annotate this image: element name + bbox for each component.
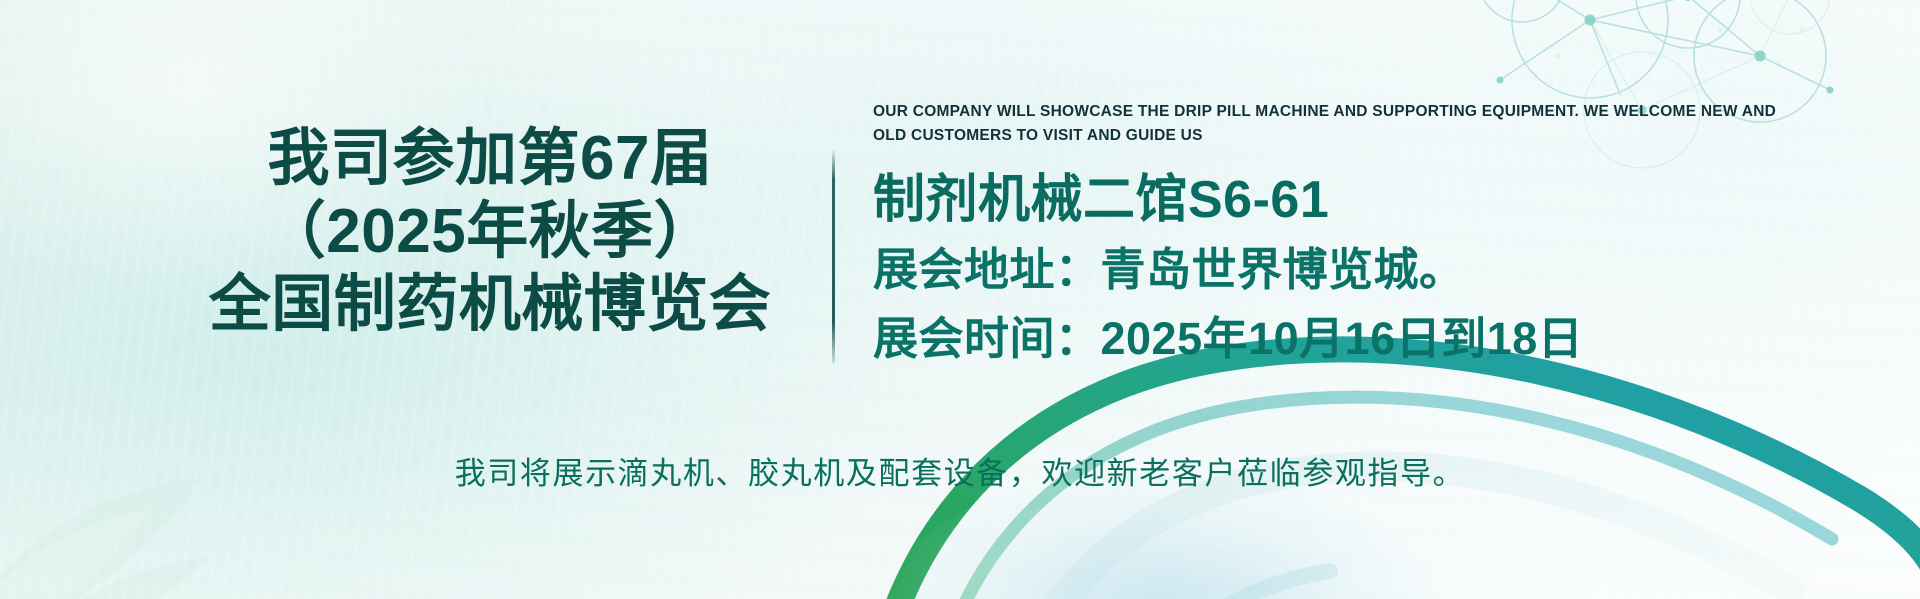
banner-content: 我司参加第67届 （2025年秋季） 全国制药机械博览会 OUR COMPANY… [0,0,1920,599]
event-details: OUR COMPANY WILL SHOWCASE THE DRIP PILL … [873,100,1873,367]
event-title-line-3: 全国制药机械博览会 [150,268,830,341]
booth-location: 制剂机械二馆S6-61 [873,170,1873,230]
english-description: OUR COMPANY WILL SHOWCASE THE DRIP PILL … [873,100,1778,148]
event-title: 我司参加第67届 （2025年秋季） 全国制药机械博览会 [150,122,830,341]
event-title-line-1: 我司参加第67届 [150,122,830,195]
event-tagline: 我司将展示滴丸机、胶丸机及配套设备，欢迎新老客户莅临参观指导。 [0,448,1920,493]
vertical-divider [832,150,835,364]
venue-address: 展会地址：青岛世界博览城。 [873,242,1873,298]
event-date: 展会时间：2025年10月16日到18日 [873,311,1873,367]
exhibition-banner: 我司参加第67届 （2025年秋季） 全国制药机械博览会 OUR COMPANY… [0,0,1920,599]
event-title-line-2: （2025年秋季） [150,195,830,268]
